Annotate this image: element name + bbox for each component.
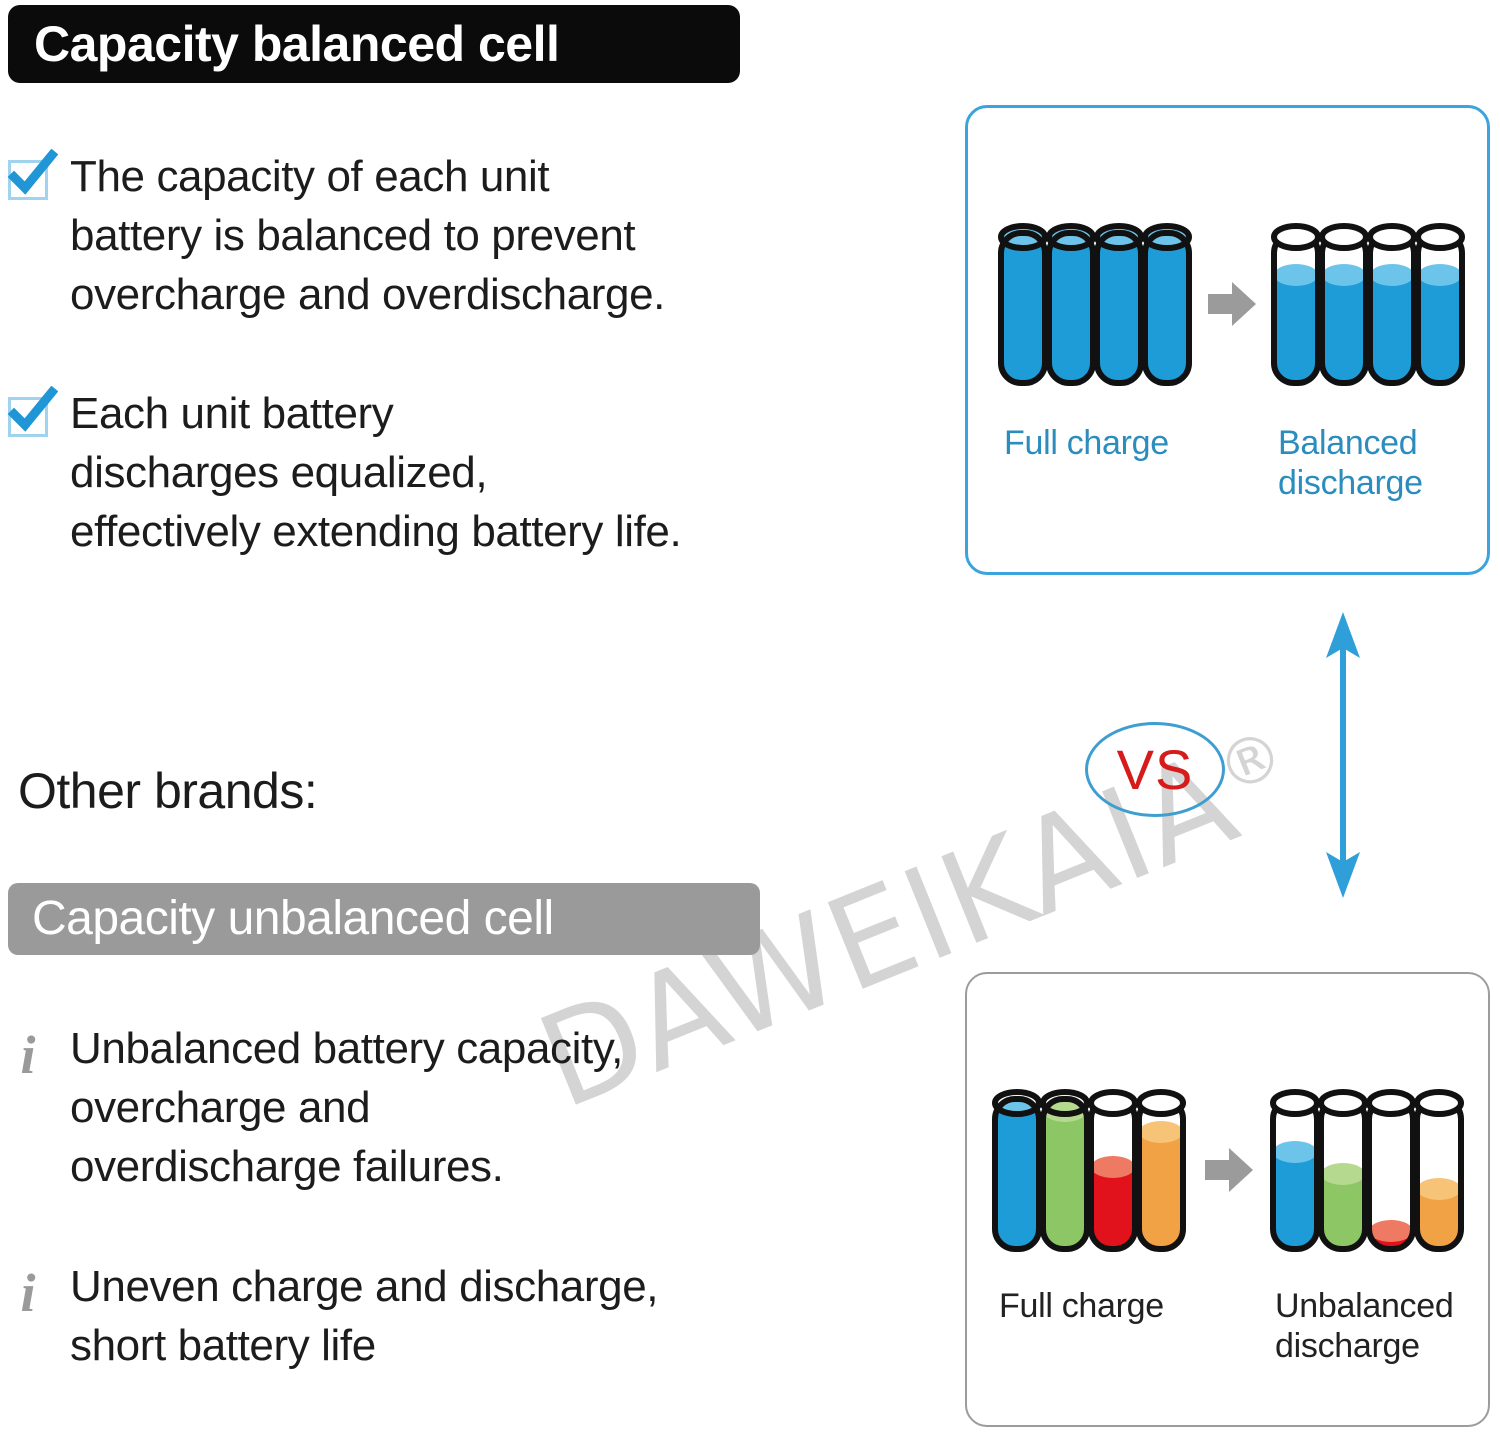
- page-title: Capacity balanced cell: [8, 19, 559, 69]
- flow-arrow-right-icon: [1205, 1146, 1255, 1194]
- bullet-text: Uneven charge and discharge, short batte…: [70, 1258, 658, 1376]
- battery-group-unbalanced-discharge: [1270, 1079, 1470, 1259]
- vs-label: VS: [1117, 742, 1194, 798]
- info-italic-icon: i: [8, 1028, 48, 1082]
- battery-group-balanced-discharge: [1271, 213, 1471, 393]
- bullet-item-equalized-discharge: Each unit battery discharges equalized, …: [8, 385, 958, 562]
- bullet-text: Each unit battery discharges equalized, …: [70, 385, 681, 562]
- panel-top-label-balanced-discharge: Balanced discharge: [1278, 423, 1488, 503]
- battery-group-full-charge-unbalanced: [992, 1079, 1192, 1259]
- bullet-item-unbalanced-capacity: i Unbalanced battery capacity, overcharg…: [8, 1020, 908, 1197]
- info-italic-icon: i: [8, 1266, 48, 1320]
- panel-top-label-full-charge: Full charge: [1004, 423, 1224, 463]
- checkbox-checked-icon: [8, 160, 48, 200]
- bullet-item-uneven-charge: i Uneven charge and discharge, short bat…: [8, 1258, 908, 1376]
- panel-bottom-label-unbalanced-discharge: Unbalanced discharge: [1275, 1286, 1490, 1366]
- left-content-column: Capacity balanced cell The capacity of e…: [0, 0, 960, 1442]
- vertical-double-arrow-icon: [1308, 610, 1378, 900]
- panel-unbalanced-cell: Full charge Unbalanced discharge: [965, 972, 1490, 1427]
- vs-badge: VS: [1085, 722, 1225, 817]
- right-diagram-column: Full charge Balanced discharge: [955, 0, 1500, 1442]
- sub-banner-title: Capacity unbalanced cell: [8, 895, 554, 943]
- title-banner: Capacity balanced cell: [8, 5, 740, 83]
- checkbox-checked-icon: [8, 397, 48, 437]
- bullet-text: Unbalanced battery capacity, overcharge …: [70, 1020, 623, 1197]
- flow-arrow-right-icon: [1208, 280, 1258, 328]
- battery-group-full-charge-balanced: [998, 213, 1198, 393]
- panel-balanced-cell: Full charge Balanced discharge: [965, 105, 1490, 575]
- sub-banner-unbalanced: Capacity unbalanced cell: [8, 883, 760, 955]
- other-brands-heading: Other brands:: [18, 762, 317, 820]
- bullet-item-balanced-capacity: The capacity of each unit battery is bal…: [8, 148, 938, 325]
- bullet-text: The capacity of each unit battery is bal…: [70, 148, 665, 325]
- panel-bottom-label-full-charge: Full charge: [999, 1286, 1219, 1326]
